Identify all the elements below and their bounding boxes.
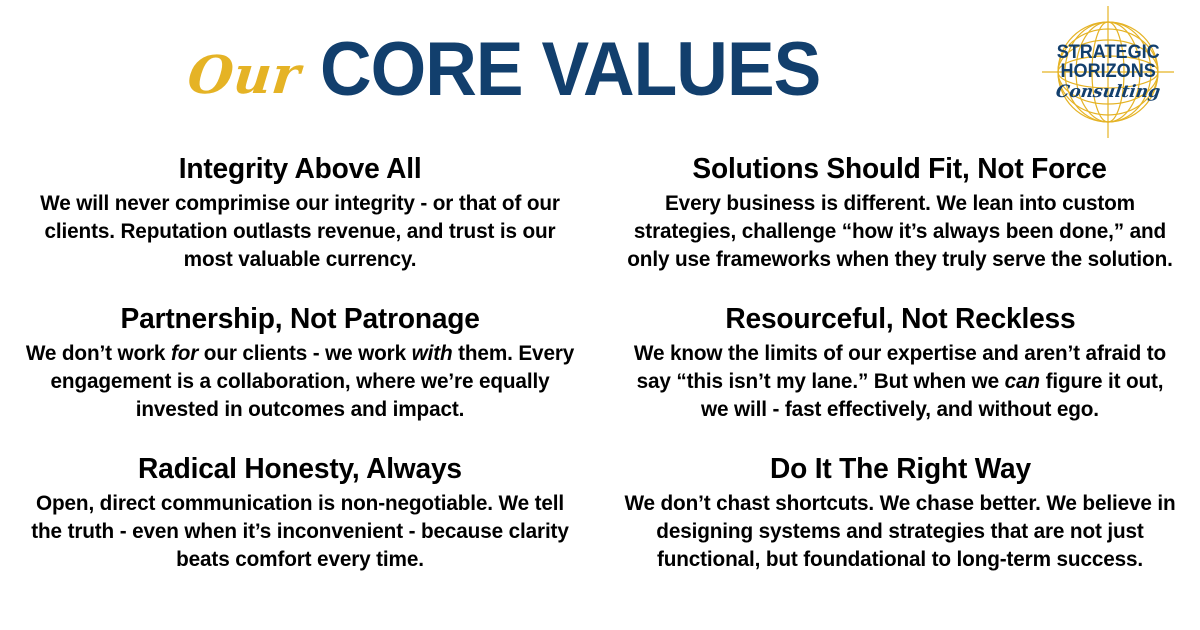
value-body: Every business is different. We lean int… [624, 190, 1176, 274]
value-body: We will never comprimise our integrity -… [24, 190, 576, 274]
value-block: Integrity Above All We will never compri… [14, 140, 586, 290]
value-block: Solutions Should Fit, Not Force Every bu… [614, 140, 1186, 290]
value-body: We don’t chast shortcuts. We chase bette… [624, 490, 1176, 574]
title-accent-word: Our [185, 50, 302, 102]
value-heading: Resourceful, Not Reckless [725, 304, 1075, 335]
title-main-text: CORE VALUES [320, 32, 820, 108]
value-heading: Partnership, Not Patronage [120, 304, 479, 335]
value-heading: Radical Honesty, Always [138, 454, 462, 485]
logo-line-1: STRATEGIC [1057, 43, 1160, 62]
title-line: Our CORE VALUES [188, 32, 852, 108]
logo-line-2: HORIZONS [1060, 62, 1155, 82]
value-heading: Do It The Right Way [770, 454, 1031, 485]
value-heading: Integrity Above All [179, 154, 422, 185]
logo-script-word: Consulting [1054, 83, 1161, 102]
value-heading: Solutions Should Fit, Not Force [693, 154, 1107, 185]
page-header: Our CORE VALUES STRATEGIC HORIZONS Consu… [0, 0, 1200, 140]
value-body: We don’t work for our clients - we work … [24, 340, 576, 424]
value-block: Radical Honesty, Always Open, direct com… [14, 440, 586, 590]
value-body: We know the limits of our expertise and … [624, 340, 1176, 424]
values-columns: Integrity Above All We will never compri… [0, 140, 1200, 630]
page-title: Our CORE VALUES [0, 0, 1040, 140]
value-block: Resourceful, Not Reckless We know the li… [614, 290, 1186, 440]
values-column-right: Solutions Should Fit, Not Force Every bu… [600, 140, 1200, 630]
company-logo: STRATEGIC HORIZONS Consulting [1034, 2, 1182, 142]
value-block: Do It The Right Way We don’t chast short… [614, 440, 1186, 590]
value-body: Open, direct communication is non-negoti… [24, 490, 576, 574]
value-block: Partnership, Not Patronage We don’t work… [14, 290, 586, 440]
values-column-left: Integrity Above All We will never compri… [0, 140, 600, 630]
